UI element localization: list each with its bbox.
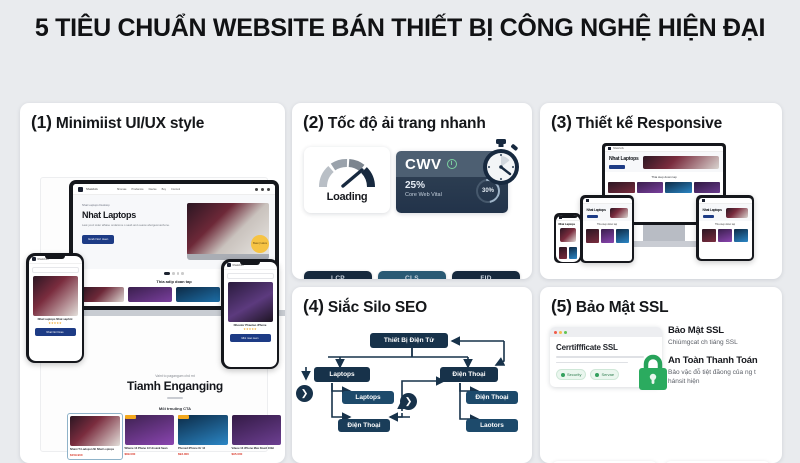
engagement-section: Vaint to pagangum chd rnt Tiamh Engangin… — [61, 374, 285, 463]
brand-logo-icon — [227, 263, 231, 267]
monitor-foot — [624, 241, 704, 247]
hero-heading: Nhat Laptops — [556, 221, 580, 226]
hero-heading: Nhat Laptops — [587, 208, 606, 212]
phone-cta-button[interactable]: Nhat Nor Does — [35, 328, 76, 336]
trust-badges: PCI DSS SAFE Secury — [540, 457, 782, 463]
hero-product-image — [726, 208, 748, 218]
phone-notch — [240, 262, 260, 265]
ssl-block-heading: Bảo Mật SSL — [668, 325, 774, 336]
product-thumb[interactable] — [608, 182, 635, 193]
monitor-stand — [643, 225, 685, 241]
placeholder-line — [556, 356, 644, 358]
card1-title: (1) Minimiist UI/UX style — [20, 103, 285, 137]
loading-gauge-card: Loading — [304, 147, 390, 213]
spacer — [668, 347, 774, 355]
cwv-title: CWV — [405, 156, 442, 173]
card5-number: (5) — [551, 296, 572, 316]
card4-number: (4) — [303, 296, 324, 316]
lower-eyebrow: Vaint to pagangum chd rnt — [61, 374, 285, 378]
service-pill-label: Servae — [601, 372, 614, 377]
carousel-dot[interactable] — [177, 272, 180, 275]
hero-heading: Nhat Laptops — [609, 156, 639, 162]
hero-section: Nhat Laptops Desktop Nhat Laptops Laat y… — [73, 195, 275, 269]
node-root[interactable]: Thiết Bị Điện Tử — [370, 333, 448, 348]
card2-title-text: Tốc độ ải trang nhanh — [328, 115, 486, 132]
metric-chip-cls[interactable]: CLS < 0.1 — [378, 271, 446, 279]
metric-chips: LCP < 2.5s CLS < 0.1 FID < 100ms — [292, 271, 532, 279]
card2-title: (2) Tốc độ ải trang nhanh — [292, 103, 532, 137]
card-minimalist-ui[interactable]: (1) Minimiist UI/UX style Nhatshofu Shom… — [20, 103, 285, 463]
phone-search-input[interactable] — [32, 267, 79, 273]
card3-title-text: Thiết kế Responsive — [576, 115, 722, 132]
product-thumb[interactable] — [734, 229, 748, 242]
phone-product-image — [228, 282, 273, 322]
hero-heading: Nhat Laptops — [703, 208, 722, 212]
metric-key: CLS — [378, 275, 446, 279]
check-icon — [561, 373, 565, 377]
security-pill: Security — [556, 369, 586, 380]
brand-logo-icon — [702, 199, 705, 202]
sale-tag — [125, 415, 136, 419]
info-icon[interactable]: i — [447, 159, 457, 169]
nav-link[interactable]: Davise — [149, 188, 157, 191]
hero-product-image — [610, 208, 628, 218]
card3-title: (3) Thiết kế Responsive — [540, 103, 782, 137]
close-icon[interactable] — [554, 331, 557, 334]
hero-eyebrow: Nhat Laptops Desktop — [82, 203, 175, 207]
nav-link[interactable]: Conneti — [171, 188, 180, 191]
card5-title: (5) Bảo Mật SSL — [540, 287, 782, 321]
card4-title: (4) Siắc Silo SEO — [292, 287, 532, 321]
brand-logo-icon — [608, 147, 611, 150]
card2-number: (2) — [303, 112, 324, 132]
product-thumb[interactable] — [718, 229, 732, 242]
product-thumb[interactable] — [80, 287, 124, 302]
brand-logo-icon — [586, 199, 589, 202]
product-thumb[interactable] — [665, 182, 692, 193]
window-titlebar — [550, 327, 662, 337]
brand-logo-icon — [78, 187, 83, 192]
cart-icon[interactable] — [267, 188, 270, 191]
phone-screen: Nhatshofu Nhat Laptops Nhat saphnt ★★★★★… — [29, 256, 82, 361]
product-image — [178, 415, 228, 445]
product-thumb[interactable] — [601, 229, 614, 243]
hero-section: Nhat Laptops — [583, 204, 632, 221]
site-navbar: Nhatshofu Shomae Prodanore Davise Buy Co… — [73, 184, 275, 195]
nav-link[interactable]: Buy — [162, 188, 166, 191]
node-leaf-dienthoai-right[interactable]: Điện Thoại — [466, 391, 518, 404]
gauge-label: Loading — [327, 191, 368, 203]
speed-visual: Loading CWV i 25% Core Web Vital 30% — [292, 137, 532, 271]
node-branch-dienthoai[interactable]: Điện Thoại — [440, 367, 498, 382]
tablet-screen: Nhat Laptops Thia step down tap — [583, 198, 632, 261]
card1-number: (1) — [31, 112, 52, 132]
product-name: Vdeoe 13 iPhone Max Dowd 10bit — [232, 447, 282, 451]
product-price: $95.000 — [232, 452, 282, 456]
product-grid-row1: Nhani Ti Ladopsn Nt Nhat Loptops $159.90… — [61, 411, 285, 458]
card1-title-text: Minimiist UI/UX style — [56, 115, 204, 132]
card-page-speed[interactable]: (2) Tốc độ ải trang nhanh Loading — [292, 103, 532, 279]
carousel-dot[interactable] — [181, 272, 184, 275]
node-leaf-laotors[interactable]: Laotors — [466, 419, 518, 432]
hero-product-image — [643, 156, 719, 169]
product-image — [70, 416, 120, 446]
brand-name: Nhatshofu — [86, 188, 98, 191]
hero-section: Nhat Laptops — [605, 152, 723, 172]
product-thumb[interactable] — [128, 287, 172, 302]
phone-product-image — [33, 276, 78, 316]
phone-device-right: Nhatshofu Nhoutor Phaotao iPhone ★★★★★ M… — [221, 259, 279, 369]
product-strip — [556, 244, 580, 262]
product-thumb[interactable] — [569, 247, 577, 259]
metric-key: FID — [452, 275, 520, 279]
nav-link[interactable]: Shomae — [117, 188, 127, 191]
product-price: $89.000 — [125, 452, 175, 456]
product-card[interactable]: Whune 13 Phane 13 Unoank Sean $89.000 — [125, 415, 175, 458]
phone-device: Nhat Laptops — [554, 213, 581, 263]
product-name: Phoned iPhone Or 12 — [178, 447, 228, 451]
minimize-icon[interactable] — [559, 331, 562, 334]
service-pill: Servae — [590, 369, 619, 380]
card3-number: (3) — [551, 112, 572, 132]
product-price: $159.900 — [70, 453, 120, 457]
sale-tag — [178, 415, 189, 419]
phone-cta-button[interactable]: Mini mao neen — [230, 334, 271, 342]
product-thumb[interactable] — [694, 182, 721, 193]
metric-chip-lcp[interactable]: LCP < 2.5s — [304, 271, 372, 279]
hero-cta-button[interactable]: Grab Nori Jeen — [82, 235, 114, 244]
product-thumb[interactable] — [586, 229, 599, 243]
responsive-devices-stage: Nhatshofu Nhat Laptops Thia step down ta… — [540, 137, 782, 271]
brand-name: Nhatshofu — [613, 147, 624, 150]
hero-cta-button[interactable] — [703, 215, 714, 218]
hero-cta-button[interactable] — [587, 215, 598, 218]
tablet-device-left: Nhat Laptops Thia step down tap — [580, 195, 634, 263]
hero-section: Nhat Laptops — [699, 204, 752, 221]
node-leaf-laptops[interactable]: Laptops — [342, 391, 394, 404]
product-strip — [583, 226, 632, 246]
node-branch-laptops[interactable]: Laptops — [314, 367, 370, 382]
tablet-screen: Nhat Laptops Thia step down tap — [699, 198, 752, 259]
chevron-right-icon[interactable]: ❯ — [296, 385, 313, 402]
check-icon — [595, 373, 599, 377]
card5-title-text: Bảo Mật SSL — [576, 299, 669, 316]
carousel-dot-active[interactable] — [164, 272, 170, 275]
phone-screen: Nhatshofu Nhoutor Phaotao iPhone ★★★★★ M… — [224, 262, 277, 367]
payment-block-text: Bảo vặc đỗ tiệt đãong của ng t hánsit hi… — [668, 368, 774, 386]
phone-product-image — [560, 228, 576, 242]
security-pill-label: Security — [567, 372, 581, 377]
hero-heading: Nhat Laptops — [82, 210, 175, 220]
search-icon[interactable] — [255, 188, 258, 191]
product-strip — [605, 179, 723, 196]
product-card[interactable]: Nhani Ti Ladopsn Nt Nhat Loptops $159.90… — [67, 413, 123, 460]
hero-text: Nhat Laptops Desktop Nhat Laptops Laat y… — [82, 203, 175, 269]
product-thumb[interactable] — [702, 229, 716, 242]
divider — [167, 397, 183, 399]
maximize-icon[interactable] — [564, 331, 567, 334]
brand-logo-icon — [32, 257, 36, 261]
card4-title-text: Siắc Silo SEO — [328, 299, 427, 316]
product-name: Nhani Ti Ladopsn Nt Nhat Loptops — [70, 448, 120, 452]
phone-search-input[interactable] — [227, 273, 274, 279]
speed-gauge-icon — [317, 157, 377, 189]
cards-grid: (1) Minimiist UI/UX style Nhatshofu Shom… — [0, 43, 800, 423]
product-image — [232, 415, 282, 445]
payment-block-heading: An Toàn Thanh Toán — [668, 355, 774, 366]
ssl-block-text: Chiúmgcat ch tiáng SSL — [668, 338, 774, 347]
navbar-links: Shomae Prodanore Davise Buy Conneti — [117, 188, 180, 191]
card1-mockup-stage: Nhatshofu Shomae Prodanore Davise Buy Co… — [20, 137, 285, 455]
nav-link[interactable]: Prodanore — [132, 188, 144, 191]
node-leaf-dienthoai-left[interactable]: Điện Thoại — [338, 419, 390, 432]
hero-cta-button[interactable] — [609, 165, 625, 169]
product-price: $93.000 — [178, 452, 228, 456]
chevron-right-icon[interactable]: ❯ — [400, 393, 417, 410]
phone-notch — [45, 256, 65, 259]
product-strip — [699, 226, 752, 245]
metric-key: LCP — [304, 275, 372, 279]
product-card[interactable]: Vdeoe 13 iPhone Max Dowd 10bit $95.000 — [232, 415, 282, 458]
ssl-text-blocks: Bảo Mật SSL Chiúmgcat ch tiáng SSL An To… — [668, 325, 774, 386]
phone-notch — [558, 215, 578, 218]
stopwatch-icon — [478, 139, 524, 187]
rating-stars-icon: ★★★★★ — [224, 327, 277, 331]
product-thumb[interactable] — [637, 182, 664, 193]
product-card[interactable]: Phoned iPhone Or 12 $93.000 — [178, 415, 228, 458]
product-thumb[interactable] — [616, 229, 629, 243]
phone-device-left: Nhatshofu Nhat Laptops Nhat saphnt ★★★★★… — [26, 253, 84, 363]
cwv-ring-value: 30% — [482, 188, 494, 194]
user-icon[interactable] — [261, 188, 264, 191]
hero-badge: Buan | kokos — [251, 235, 269, 253]
metric-chip-fid[interactable]: FID < 100ms — [452, 271, 520, 279]
lock-icon — [636, 351, 670, 391]
carousel-dot[interactable] — [172, 272, 175, 275]
navbar-icons — [255, 188, 270, 191]
product-thumb[interactable] — [559, 247, 567, 259]
page-title: 5 TIÊU CHUẨN WEBSITE BÁN THIẾT BỊ CÔNG N… — [0, 0, 800, 43]
card-responsive-design[interactable]: (3) Thiết kế Responsive Nhatshofu Nhat L… — [540, 103, 782, 279]
rating-stars-icon: ★★★★★ — [29, 321, 82, 325]
hero-subtext: Laat youri sider affaise ondarione s saa… — [82, 223, 175, 227]
phone-screen: Nhat Laptops — [556, 215, 580, 262]
product-thumb[interactable] — [176, 287, 220, 302]
product-name: Whune 13 Phane 13 Unoank Sean — [125, 447, 175, 451]
tablet-device-right: Nhat Laptops Thia step down tap — [696, 195, 754, 261]
certificate-heading: Cerrtiffficate SSL — [550, 337, 662, 352]
product-image — [125, 415, 175, 445]
lower-heading: Tiamh Enganging — [61, 379, 285, 393]
